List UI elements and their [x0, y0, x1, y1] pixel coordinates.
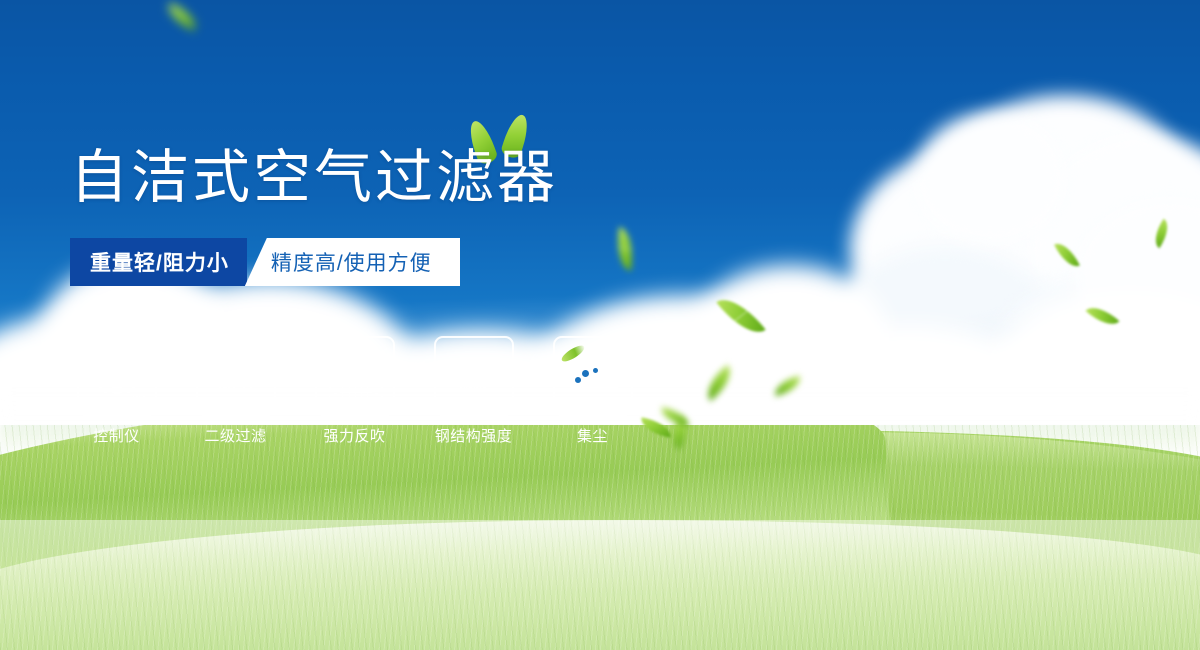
feature-label: 控制仪 [93, 425, 140, 446]
feature-label: 二级过滤 [204, 425, 266, 446]
feature-icon-box [315, 336, 395, 416]
subtitle-bar: 重量轻/阻力小 精度高/使用方便 [70, 238, 460, 286]
page-title: 自洁式空气过滤器 [70, 146, 558, 210]
subtitle-segment-right: 精度高/使用方便 [245, 238, 460, 286]
feature-item-controller: NO OFF 控制仪 [70, 336, 163, 446]
feature-label: 强力反吹 [323, 425, 385, 446]
filter-disc-stack-icon [329, 347, 381, 405]
feature-item-reverse-blow: 强力反吹 [308, 336, 401, 446]
feature-icon-box: Air [553, 336, 633, 416]
product-hero-banner: 自洁式空气过滤器 重量轻/阻力小 精度高/使用方便 [0, 0, 1200, 650]
steel-value-line1: 3～8MM [442, 357, 505, 376]
gauge-label-off: OFF [133, 395, 148, 402]
feature-item-dust-collection: Air 集尘 [546, 336, 639, 446]
feature-label: 集尘 [577, 425, 608, 446]
feature-label: 钢结构强度 [435, 425, 513, 446]
air-label: Air [585, 399, 600, 411]
feature-icon-box: 3～8MM 钢板 [434, 336, 514, 416]
feature-list: NO OFF 控制仪 0.6～0.8 MPA 二级过滤 [70, 336, 639, 446]
gauge-label-no: NO [85, 373, 96, 380]
feature-item-steel-strength: 3～8MM 钢板 钢结构强度 [427, 336, 520, 446]
feature-item-secondary-filter: 0.6～0.8 MPA 二级过滤 [189, 336, 282, 446]
steel-value-line2: 钢板 [457, 376, 490, 395]
pressure-value-line2: MPA [218, 376, 253, 395]
gauge-dial-icon: NO OFF [87, 347, 147, 405]
feature-icon-box: 0.6～0.8 MPA [196, 336, 276, 416]
subtitle-segment-left: 重量轻/阻力小 [70, 238, 247, 286]
dust-cloud-icon: Air [564, 353, 622, 399]
feature-icon-box: NO OFF [77, 336, 157, 416]
pressure-value-line1: 0.6～0.8 [204, 357, 268, 376]
